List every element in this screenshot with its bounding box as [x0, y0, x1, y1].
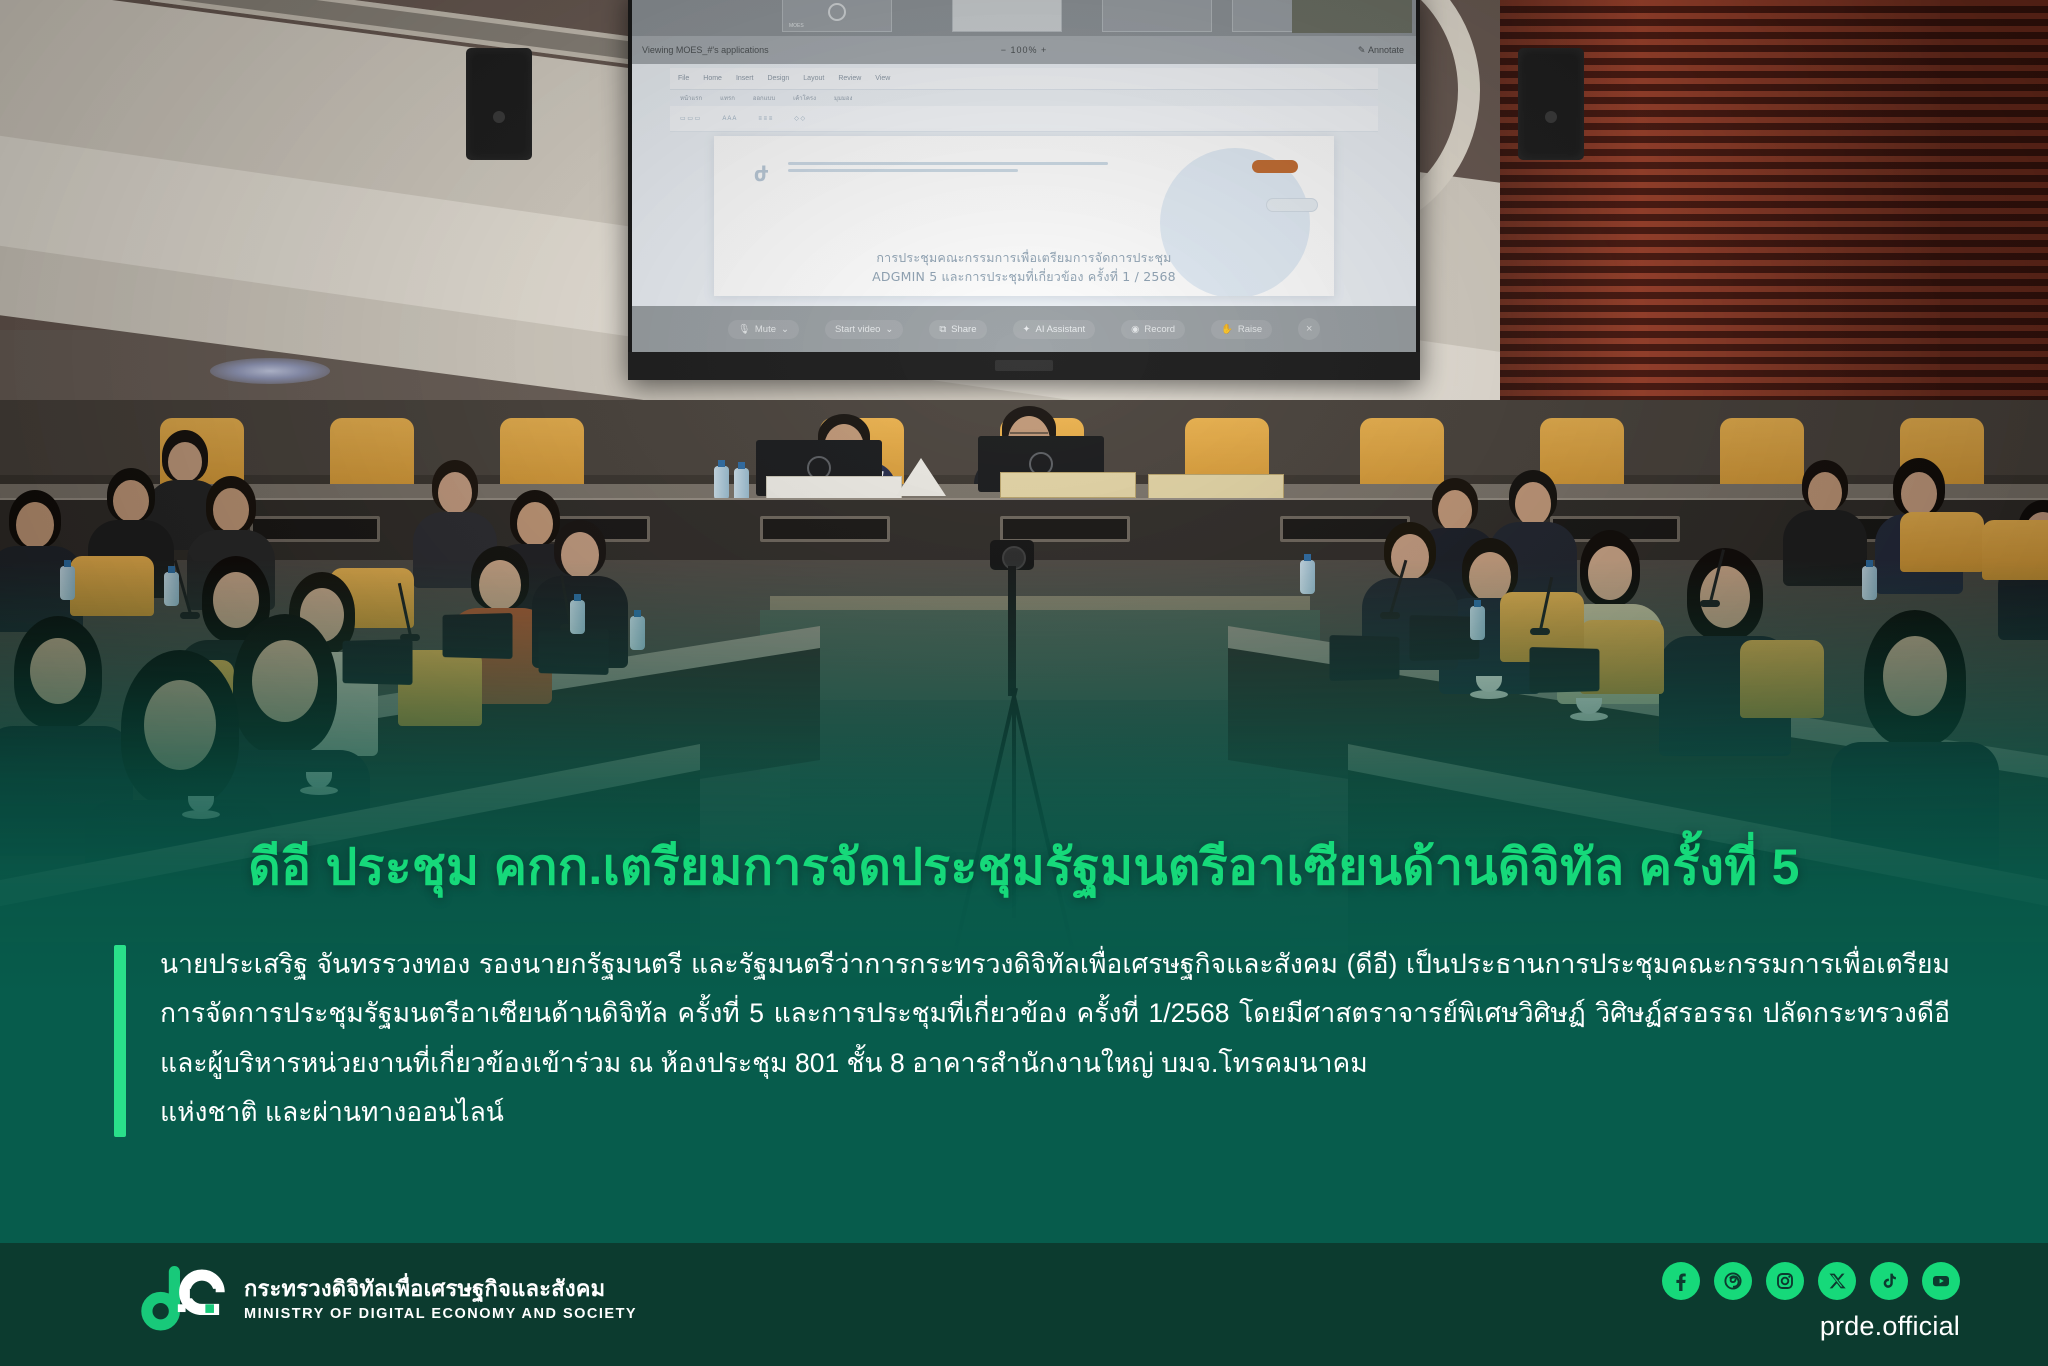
social-links: [1662, 1262, 1960, 1300]
annotate-label: Annotate: [1368, 45, 1404, 55]
record-label: Record: [1144, 324, 1175, 335]
attendee: [1790, 460, 1860, 570]
participant-thumbnails: MOES: [632, 0, 1416, 36]
dais-vent: [760, 516, 890, 542]
doc-toolbar-item[interactable]: Review: [838, 75, 861, 82]
ai-assistant-button[interactable]: ✦ AI Assistant: [1013, 320, 1096, 339]
ribbon-group: ◇ ◇: [794, 115, 805, 122]
start-video-button[interactable]: Start video ⌄: [825, 320, 903, 339]
article-paragraph: นายประเสริฐ จันทรรวงทอง รองนายกรัฐมนตรี …: [160, 940, 1950, 1088]
participant-thumb[interactable]: [1102, 0, 1212, 32]
dfe-logo-icon: ժ: [754, 162, 774, 188]
youtube-icon[interactable]: [1922, 1262, 1960, 1300]
document-tab[interactable]: เค้าโครง: [793, 93, 816, 103]
ribbon-group: ≡ ≡ ≡: [758, 116, 772, 122]
screen-housing: [628, 352, 1420, 380]
document-tab[interactable]: มุมมอง: [834, 93, 852, 103]
ceiling-speaker-right: [1518, 48, 1584, 160]
threads-icon[interactable]: [1714, 1262, 1752, 1300]
page-title: ดีอี ประชุม คกก.เตรียมการจัดประชุมรัฐมนต…: [0, 828, 2048, 907]
annotate-button[interactable]: ✎ Annotate: [1358, 45, 1404, 56]
slide-title-line-1: การประชุมคณะกรรมการเพื่อเตรียมการจัดการป…: [714, 248, 1334, 267]
document-ribbon: ▭ ▭ ▭ A A A ≡ ≡ ≡ ◇ ◇: [670, 106, 1378, 132]
ministry-name-th: กระทรวงดิจิทัลเพื่อเศรษฐกิจและสังคม: [244, 1276, 637, 1303]
doc-toolbar-item[interactable]: Insert: [736, 75, 754, 82]
doc-toolbar-item[interactable]: File: [678, 75, 689, 82]
raise-hand-icon: ✋: [1221, 324, 1233, 335]
dais-vent: [1000, 516, 1130, 542]
document-toolbar: File Home Insert Design Layout Review Vi…: [670, 68, 1378, 90]
ministry-logo-text: กระทรวงดิจิทัลเพื่อเศรษฐกิจและสังคม MINI…: [244, 1276, 637, 1324]
doc-toolbar-item[interactable]: Layout: [803, 75, 824, 82]
slide-title: การประชุมคณะกรรมการเพื่อเตรียมการจัดการป…: [714, 248, 1334, 287]
conference-toolbar: 🎙 Mute ⌄ Start video ⌄ ⧉ Share ✦ AI A: [632, 306, 1416, 352]
ai-assistant-label: AI Assistant: [1035, 324, 1085, 335]
slide-title-line-2: ADGMIN 5 และการประชุมที่เกี่ยวข้อง ครั้ง…: [714, 267, 1334, 286]
x-twitter-icon[interactable]: [1818, 1262, 1856, 1300]
document-button-pill[interactable]: [1266, 198, 1318, 212]
microphone-icon: 🎙: [738, 324, 750, 335]
projection-screen: MOES Viewing MOES_#'s applications − 100…: [628, 0, 1420, 380]
doc-toolbar-item[interactable]: Home: [703, 75, 722, 82]
nameplate: [1000, 472, 1136, 498]
doc-toolbar-item[interactable]: View: [875, 75, 890, 82]
chevron-down-icon[interactable]: ⌄: [885, 324, 893, 335]
nameplate: [1148, 474, 1284, 500]
instagram-icon[interactable]: [1766, 1262, 1804, 1300]
zoom-level-value: 100%: [1010, 45, 1037, 55]
share-button[interactable]: ⧉ Share: [929, 320, 986, 339]
raise-label: Raise: [1238, 324, 1262, 335]
article-body: นายประเสริฐ จันทรรวงทอง รองนายกรัฐมนตรี …: [160, 940, 1950, 1137]
ministry-logo: กระทรวงดิจิทัลเพื่อเศรษฐกิจและสังคม MINI…: [140, 1263, 637, 1337]
dfe-logo-icon: [140, 1263, 226, 1337]
chevron-down-icon[interactable]: ⌄: [781, 324, 789, 335]
record-button[interactable]: ◉ Record: [1121, 320, 1185, 339]
mute-label: Mute: [755, 324, 776, 335]
projected-image: MOES Viewing MOES_#'s applications − 100…: [632, 0, 1416, 352]
share-status-text: Viewing MOES_#'s applications: [642, 45, 769, 55]
dais-vent: [250, 516, 380, 542]
news-card: MOES Viewing MOES_#'s applications − 100…: [0, 0, 2048, 1366]
zoom-level-control[interactable]: − 100% +: [1001, 45, 1048, 55]
participant-thumb[interactable]: MOES: [782, 0, 892, 32]
leave-meeting-button[interactable]: ×: [1298, 318, 1320, 340]
document-tab[interactable]: ออกแบบ: [753, 93, 775, 103]
document-tab-row: หน้าแรก แทรก ออกแบบ เค้าโครง มุมมอง: [670, 90, 1378, 106]
participant-thumb-label: MOES: [789, 23, 804, 29]
tiktok-icon[interactable]: [1870, 1262, 1908, 1300]
document-tab[interactable]: แทรก: [720, 93, 735, 103]
document-accent-pill: [1252, 160, 1298, 173]
participant-thumb[interactable]: [952, 0, 1062, 32]
water-bottle: [734, 468, 749, 502]
ribbon-group: ▭ ▭ ▭: [680, 115, 700, 122]
raise-hand-button[interactable]: ✋ Raise: [1211, 320, 1272, 339]
accent-bar: [114, 945, 126, 1137]
social-handle: prde.official: [1820, 1311, 1960, 1342]
article-paragraph: แห่งชาติ และผ่านทางออนไลน์: [160, 1088, 1950, 1137]
start-video-label: Start video: [835, 324, 880, 335]
facebook-icon[interactable]: [1662, 1262, 1700, 1300]
shared-application-window: File Home Insert Design Layout Review Vi…: [632, 64, 1416, 306]
water-bottle: [714, 466, 729, 500]
doc-toolbar-item[interactable]: Design: [767, 75, 789, 82]
share-status-bar: Viewing MOES_#'s applications − 100% + ✎…: [632, 36, 1416, 64]
mute-button[interactable]: 🎙 Mute ⌄: [728, 320, 799, 339]
ribbon-group: A A A: [722, 116, 736, 122]
ministry-name-en: MINISTRY OF DIGITAL ECONOMY AND SOCIETY: [244, 1305, 637, 1324]
downlight: [210, 358, 330, 384]
sparkle-icon: ✦: [1023, 324, 1031, 335]
share-label: Share: [951, 324, 976, 335]
share-screen-icon: ⧉: [939, 324, 946, 335]
document-tab[interactable]: หน้าแรก: [680, 93, 702, 103]
ceiling-speaker-left: [466, 48, 532, 160]
document-page: ժ การประชุมคณะกรรมการเพื่อเตรียมการจัดกา…: [714, 136, 1334, 296]
record-icon: ◉: [1131, 324, 1139, 335]
self-view-thumb[interactable]: [1292, 0, 1412, 33]
document-header-lines: [788, 162, 1108, 176]
